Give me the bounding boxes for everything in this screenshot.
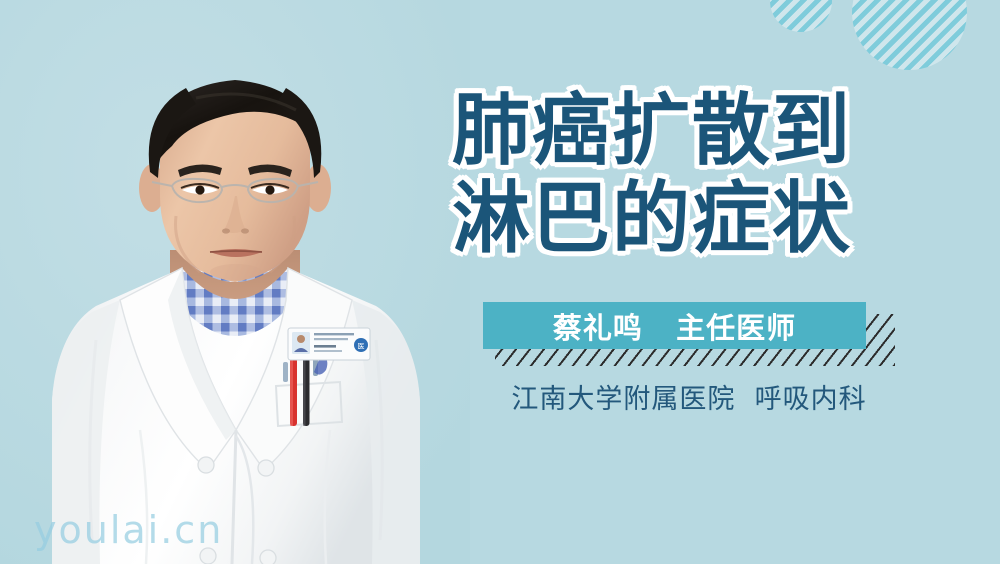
site-watermark: youlai.cn: [34, 508, 223, 552]
doctor-portrait-photo: 医: [0, 0, 470, 564]
doctor-name-banner-group: 蔡礼鸣 主任医师: [483, 302, 895, 368]
doctor-name-and-rank: 蔡礼鸣 主任医师: [553, 305, 796, 347]
doctor-name-banner: 蔡礼鸣 主任医师: [483, 302, 866, 349]
striped-circle-decoration-top-large: [852, 0, 967, 70]
svg-text:医: 医: [358, 343, 365, 351]
video-title: 肺癌扩散到 淋巴的症状: [452, 88, 912, 262]
title-line-1: 肺癌扩散到: [452, 88, 912, 174]
thumbnail-canvas: 医: [0, 0, 1000, 564]
striped-circle-decoration-top-small: [770, 0, 832, 32]
title-line-2: 淋巴的症状: [452, 176, 912, 262]
hospital-and-department: 江南大学附属医院 呼吸内科: [483, 377, 895, 416]
